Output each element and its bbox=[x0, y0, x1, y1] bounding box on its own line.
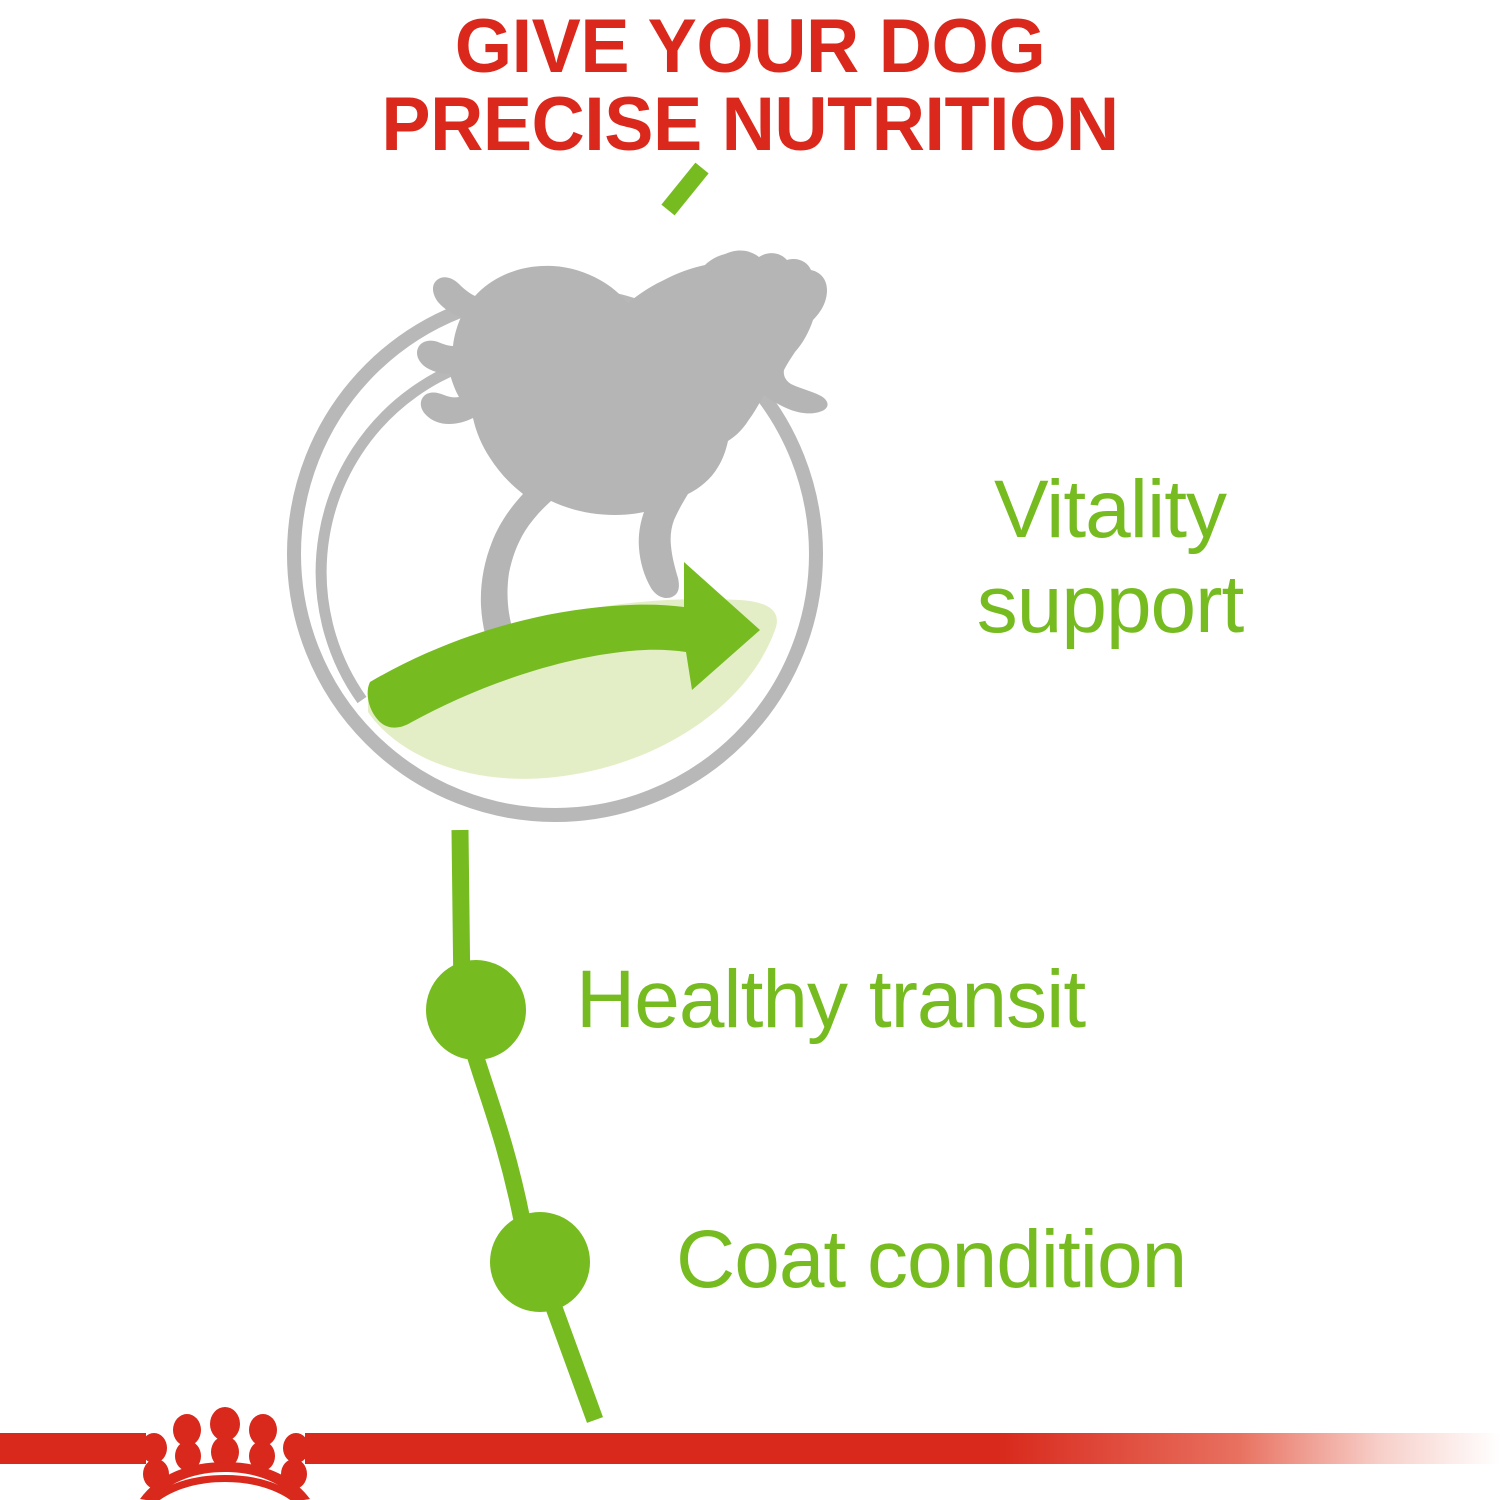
headline-line-1: GIVE YOUR DOG bbox=[23, 8, 1478, 86]
benefit-label-healthy-transit: Healthy transit bbox=[576, 952, 1276, 1047]
vitality-icon-group bbox=[270, 160, 850, 860]
connector-path bbox=[460, 830, 595, 1420]
connector-node-1 bbox=[426, 960, 526, 1060]
connector-line-top bbox=[668, 168, 702, 210]
benefit-label-vitality-support: Vitality support bbox=[830, 462, 1390, 652]
footer-brand-bar bbox=[0, 1424, 1500, 1500]
footer-bar-right bbox=[305, 1433, 1500, 1464]
royal-canin-crown-logo bbox=[130, 1402, 320, 1500]
headline-line-2: PRECISE NUTRITION bbox=[23, 86, 1478, 164]
infographic-page: GIVE YOUR DOG PRECISE NUTRITION bbox=[0, 0, 1500, 1500]
footer-bar-left bbox=[0, 1433, 146, 1464]
page-title: GIVE YOUR DOG PRECISE NUTRITION bbox=[23, 8, 1478, 165]
benefit-label-coat-condition: Coat condition bbox=[676, 1212, 1376, 1307]
connector-node-2 bbox=[490, 1212, 590, 1312]
benefit-connector bbox=[380, 820, 720, 1430]
